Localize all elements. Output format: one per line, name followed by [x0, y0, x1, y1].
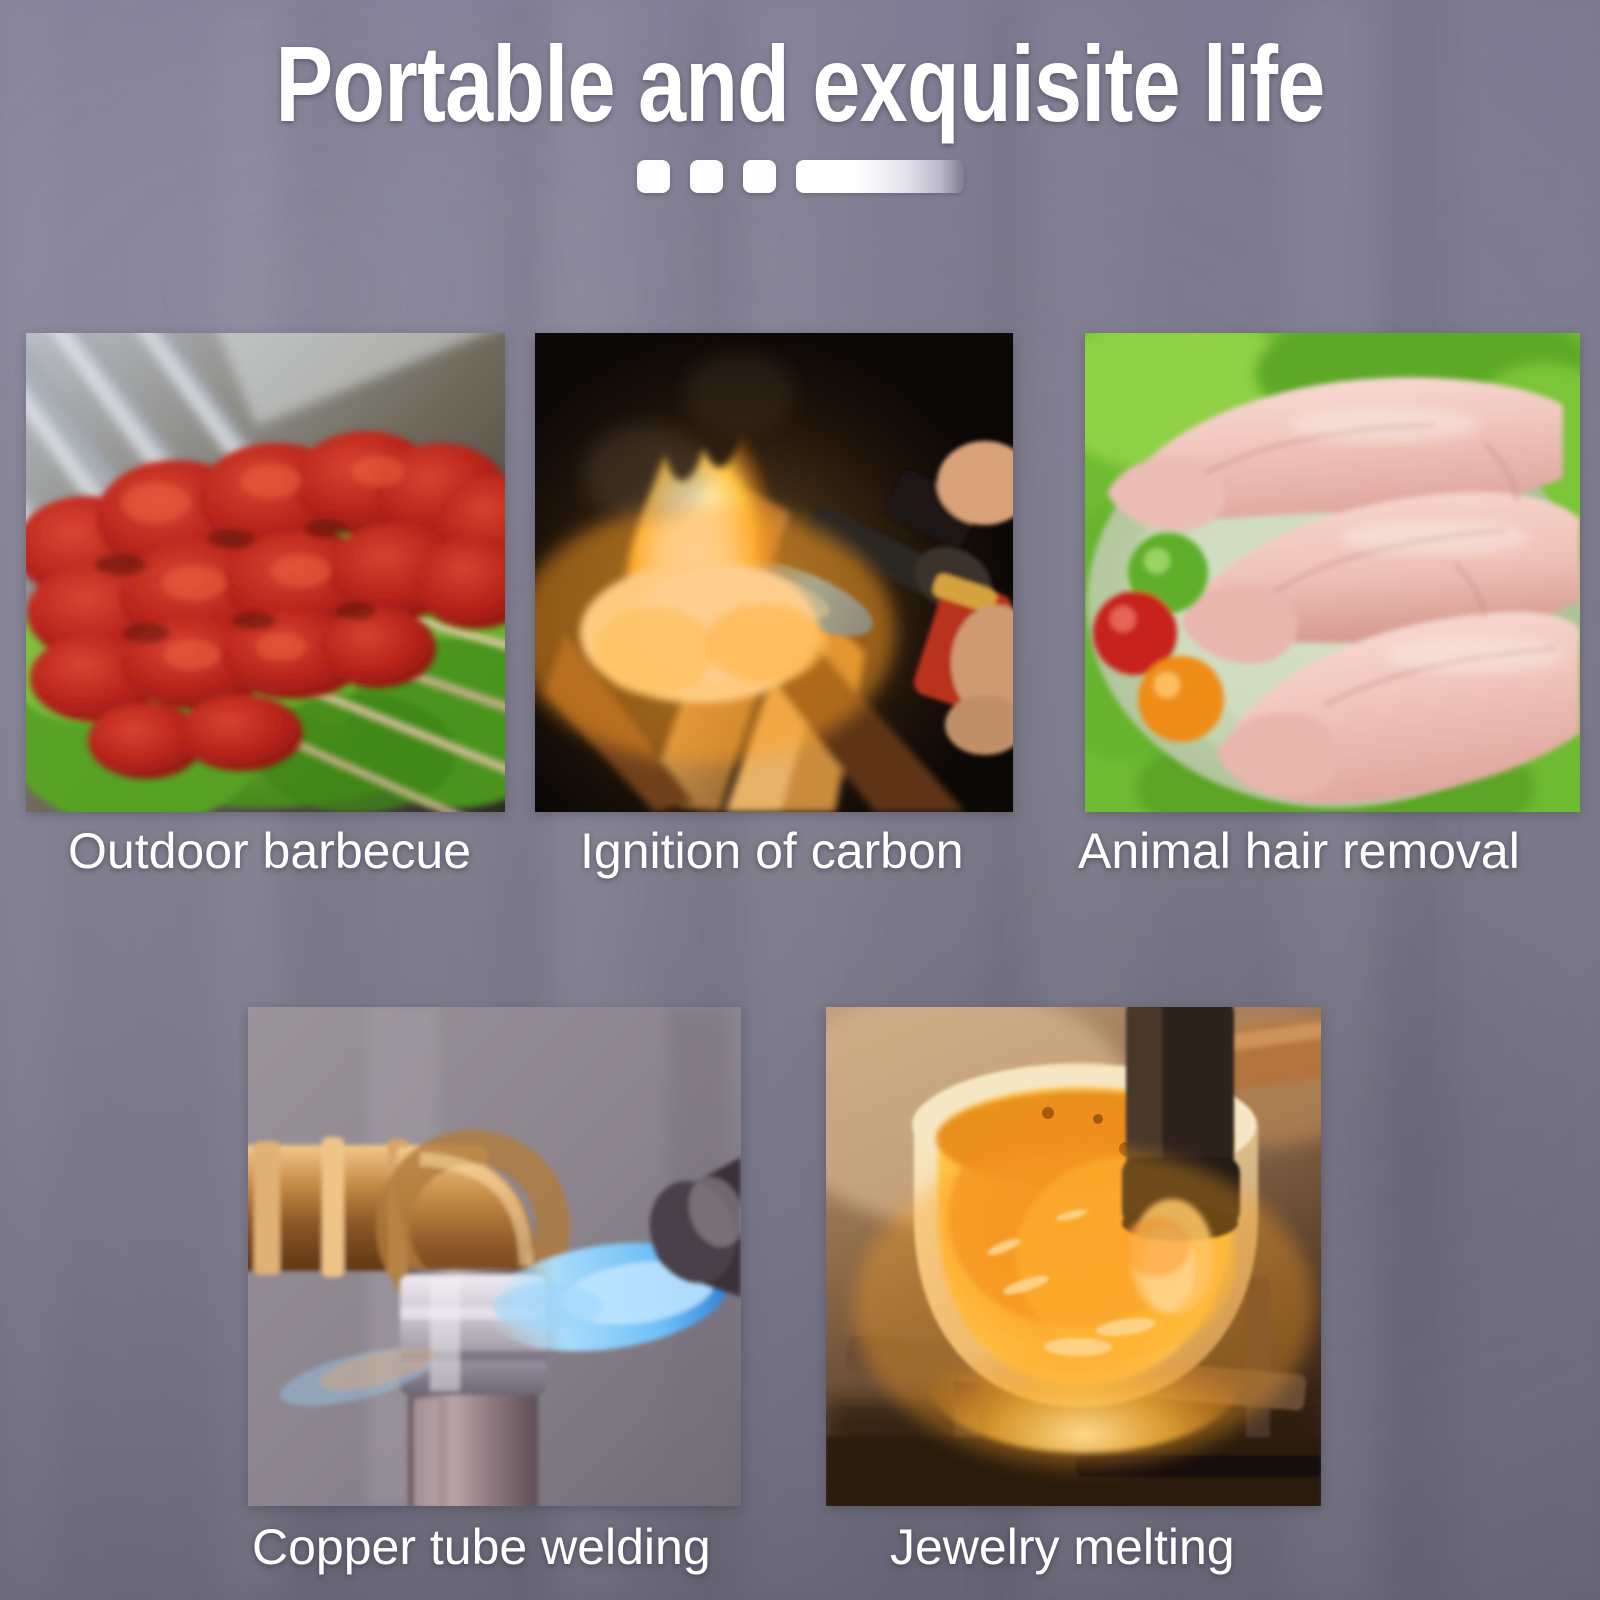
photo-copper-tube-welding [248, 1007, 741, 1506]
caption-jewelry-melting: Jewelry melting [890, 1518, 1235, 1576]
caption-animal-hair-removal: Animal hair removal [1078, 822, 1520, 880]
divider-square-1 [637, 160, 670, 193]
dash-divider [0, 160, 1600, 193]
photo-ignition-of-carbon [535, 333, 1013, 812]
photo-jewelry-melting [826, 1007, 1321, 1506]
photo-outdoor-barbecue [26, 333, 505, 812]
divider-square-3 [743, 160, 776, 193]
header: Portable and exquisite life [0, 0, 1600, 193]
caption-outdoor-barbecue: Outdoor barbecue [68, 822, 471, 880]
photo-animal-hair-removal [1085, 333, 1580, 812]
caption-copper-tube-welding: Copper tube welding [252, 1518, 711, 1576]
divider-gradient-bar [796, 160, 964, 193]
page-title: Portable and exquisite life [160, 0, 1440, 138]
divider-square-2 [690, 160, 723, 193]
caption-ignition-of-carbon: Ignition of carbon [580, 822, 964, 880]
